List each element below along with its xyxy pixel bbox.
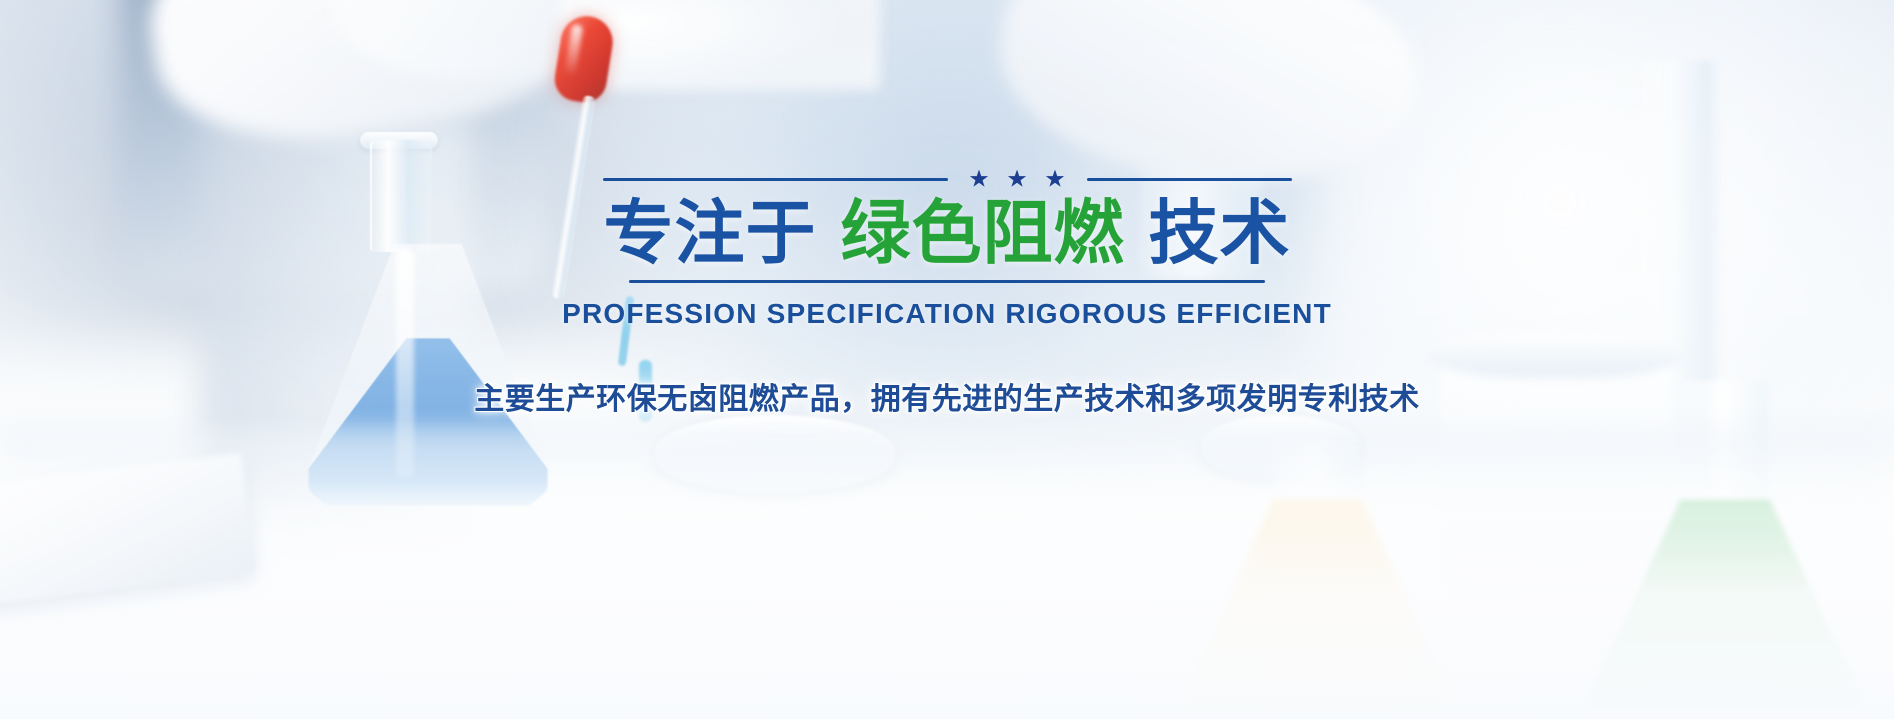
headline-underline <box>629 280 1265 283</box>
star-icon <box>970 170 989 189</box>
headline-part-1: 专注于 <box>604 194 817 272</box>
star-icon <box>1008 170 1027 189</box>
banner-subtitle: PROFESSION SPECIFICATION RIGOROUS EFFICI… <box>562 298 1332 330</box>
star-icon <box>1046 170 1065 189</box>
banner-headline: 专注于绿色阻燃技术 <box>600 196 1295 270</box>
banner-description: 主要生产环保无卤阻燃产品，拥有先进的生产技术和多项发明专利技术 <box>474 374 1420 418</box>
divider-line-left <box>603 178 948 181</box>
headline-part-3: 技术 <box>1149 194 1291 272</box>
divider-line-right <box>1087 178 1292 181</box>
divider-stars <box>948 170 1087 189</box>
banner-content: 专注于绿色阻燃技术 PROFESSION SPECIFICATION RIGOR… <box>0 0 1894 719</box>
decorative-divider <box>552 168 1342 190</box>
headline-part-2: 绿色阻燃 <box>841 194 1125 272</box>
hero-banner: 专注于绿色阻燃技术 PROFESSION SPECIFICATION RIGOR… <box>0 0 1894 719</box>
